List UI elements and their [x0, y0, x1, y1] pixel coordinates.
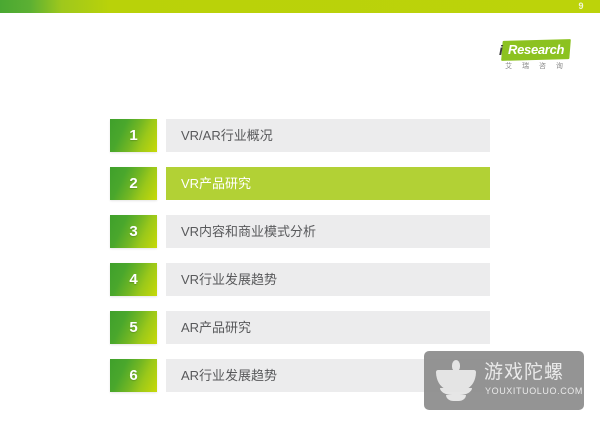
agenda-number-box-2: 2	[110, 167, 157, 200]
agenda-label-1: VR/AR行业概况	[181, 119, 273, 152]
agenda-item-5[interactable]: 5 AR产品研究	[110, 311, 490, 344]
agenda-label-bar-2[interactable]: VR产品研究	[166, 167, 490, 200]
agenda-number-box-6: 6	[110, 359, 157, 392]
agenda-label-3: VR内容和商业模式分析	[181, 215, 316, 248]
agenda-label-bar-3[interactable]: VR内容和商业模式分析	[166, 215, 490, 248]
agenda-number-4: 4	[110, 263, 157, 296]
watermark-title: 游戏陀螺	[484, 361, 564, 385]
agenda-number-3: 3	[110, 215, 157, 248]
agenda-number-box-4: 4	[110, 263, 157, 296]
agenda-item-1[interactable]: 1 VR/AR行业概况	[110, 119, 490, 152]
spinning-top-wave-1	[440, 388, 472, 395]
agenda-label-2: VR产品研究	[181, 167, 251, 200]
agenda-number-2: 2	[110, 167, 157, 200]
spinning-top-icon	[435, 360, 477, 402]
agenda-number-1: 1	[110, 119, 157, 152]
agenda-label-bar-4[interactable]: VR行业发展趋势	[166, 263, 490, 296]
watermark: 游戏陀螺 YOUXITUOLUO.COM	[424, 351, 584, 410]
agenda-item-4[interactable]: 4 VR行业发展趋势	[110, 263, 490, 296]
agenda-item-3[interactable]: 3 VR内容和商业模式分析	[110, 215, 490, 248]
agenda-label-6: AR行业发展趋势	[181, 359, 277, 392]
watermark-url: YOUXITUOLUO.COM	[485, 386, 583, 396]
agenda-label-bar-1[interactable]: VR/AR行业概况	[166, 119, 490, 152]
agenda-number-box-5: 5	[110, 311, 157, 344]
agenda-label-5: AR产品研究	[181, 311, 251, 344]
agenda-number-5: 5	[110, 311, 157, 344]
agenda-label-bar-5[interactable]: AR产品研究	[166, 311, 490, 344]
agenda-number-6: 6	[110, 359, 157, 392]
spinning-top-bowl	[436, 370, 476, 390]
spinning-top-wave-2	[446, 395, 466, 401]
agenda-item-2[interactable]: 2 VR产品研究	[110, 167, 490, 200]
agenda-label-4: VR行业发展趋势	[181, 263, 277, 296]
agenda-number-box-3: 3	[110, 215, 157, 248]
agenda-number-box-1: 1	[110, 119, 157, 152]
